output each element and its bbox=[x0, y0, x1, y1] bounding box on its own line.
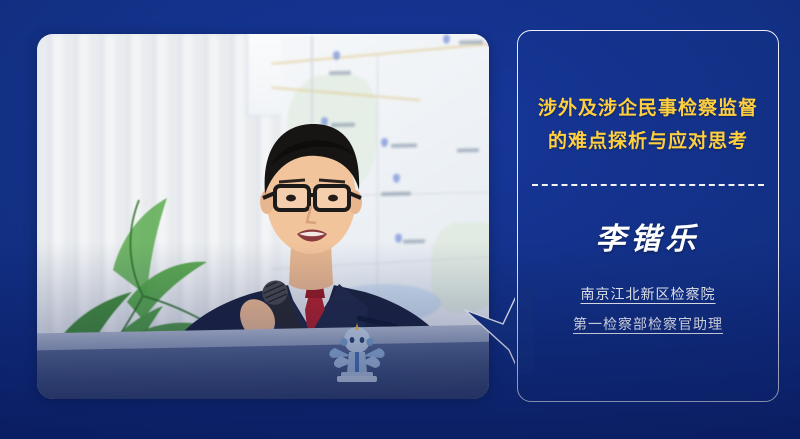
dashed-divider bbox=[532, 184, 764, 186]
podium-front-panel bbox=[37, 341, 489, 399]
title-line-2: 的难点探析与应对思考 bbox=[538, 125, 758, 158]
podium bbox=[37, 329, 489, 399]
presentation-slide: 涉外及涉企民事检察监督 的难点探析与应对思考 李锴乐 南京江北新区检察院 第一检… bbox=[0, 0, 800, 439]
title-line-1: 涉外及涉企民事检察监督 bbox=[538, 92, 758, 125]
mascot-figurine bbox=[327, 322, 387, 384]
speaker-name: 李锴乐 bbox=[596, 214, 701, 258]
affiliation-line-2: 第一检察部检察官助理 bbox=[573, 310, 723, 340]
speaker-affiliation: 南京江北新区检察院 第一检察部检察官助理 bbox=[573, 280, 723, 340]
panel-content: 涉外及涉企民事检察监督 的难点探析与应对思考 李锴乐 南京江北新区检察院 第一检… bbox=[517, 30, 779, 402]
speaker-photo bbox=[37, 34, 489, 399]
presentation-title: 涉外及涉企民事检察监督 的难点探析与应对思考 bbox=[538, 92, 758, 158]
affiliation-line-1: 南京江北新区检察院 bbox=[573, 280, 723, 310]
photo-canvas bbox=[37, 34, 489, 399]
